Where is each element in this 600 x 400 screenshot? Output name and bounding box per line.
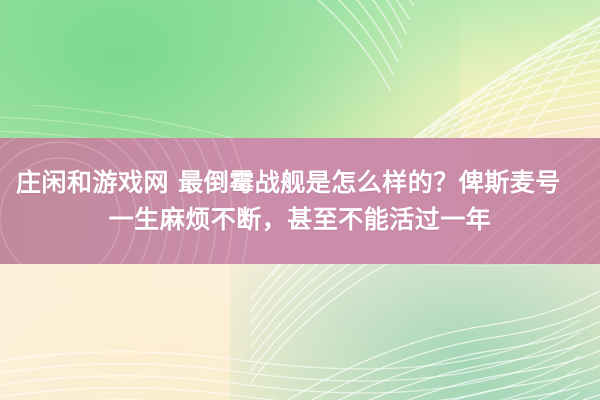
title-line-1: 庄闲和游戏网 最倒霉战舰是怎么样的？俾斯麦号 <box>16 165 561 201</box>
title-line-2: 一生麻烦不断，甚至不能活过一年 <box>109 202 492 238</box>
title-band: 庄闲和游戏网 最倒霉战舰是怎么样的？俾斯麦号 一生麻烦不断，甚至不能活过一年 <box>0 138 600 264</box>
banner-title: 庄闲和游戏网 最倒霉战舰是怎么样的？俾斯麦号 一生麻烦不断，甚至不能活过一年 <box>0 138 600 264</box>
decorative-title-banner: 庄闲和游戏网 最倒霉战舰是怎么样的？俾斯麦号 一生麻烦不断，甚至不能活过一年 <box>0 0 600 400</box>
